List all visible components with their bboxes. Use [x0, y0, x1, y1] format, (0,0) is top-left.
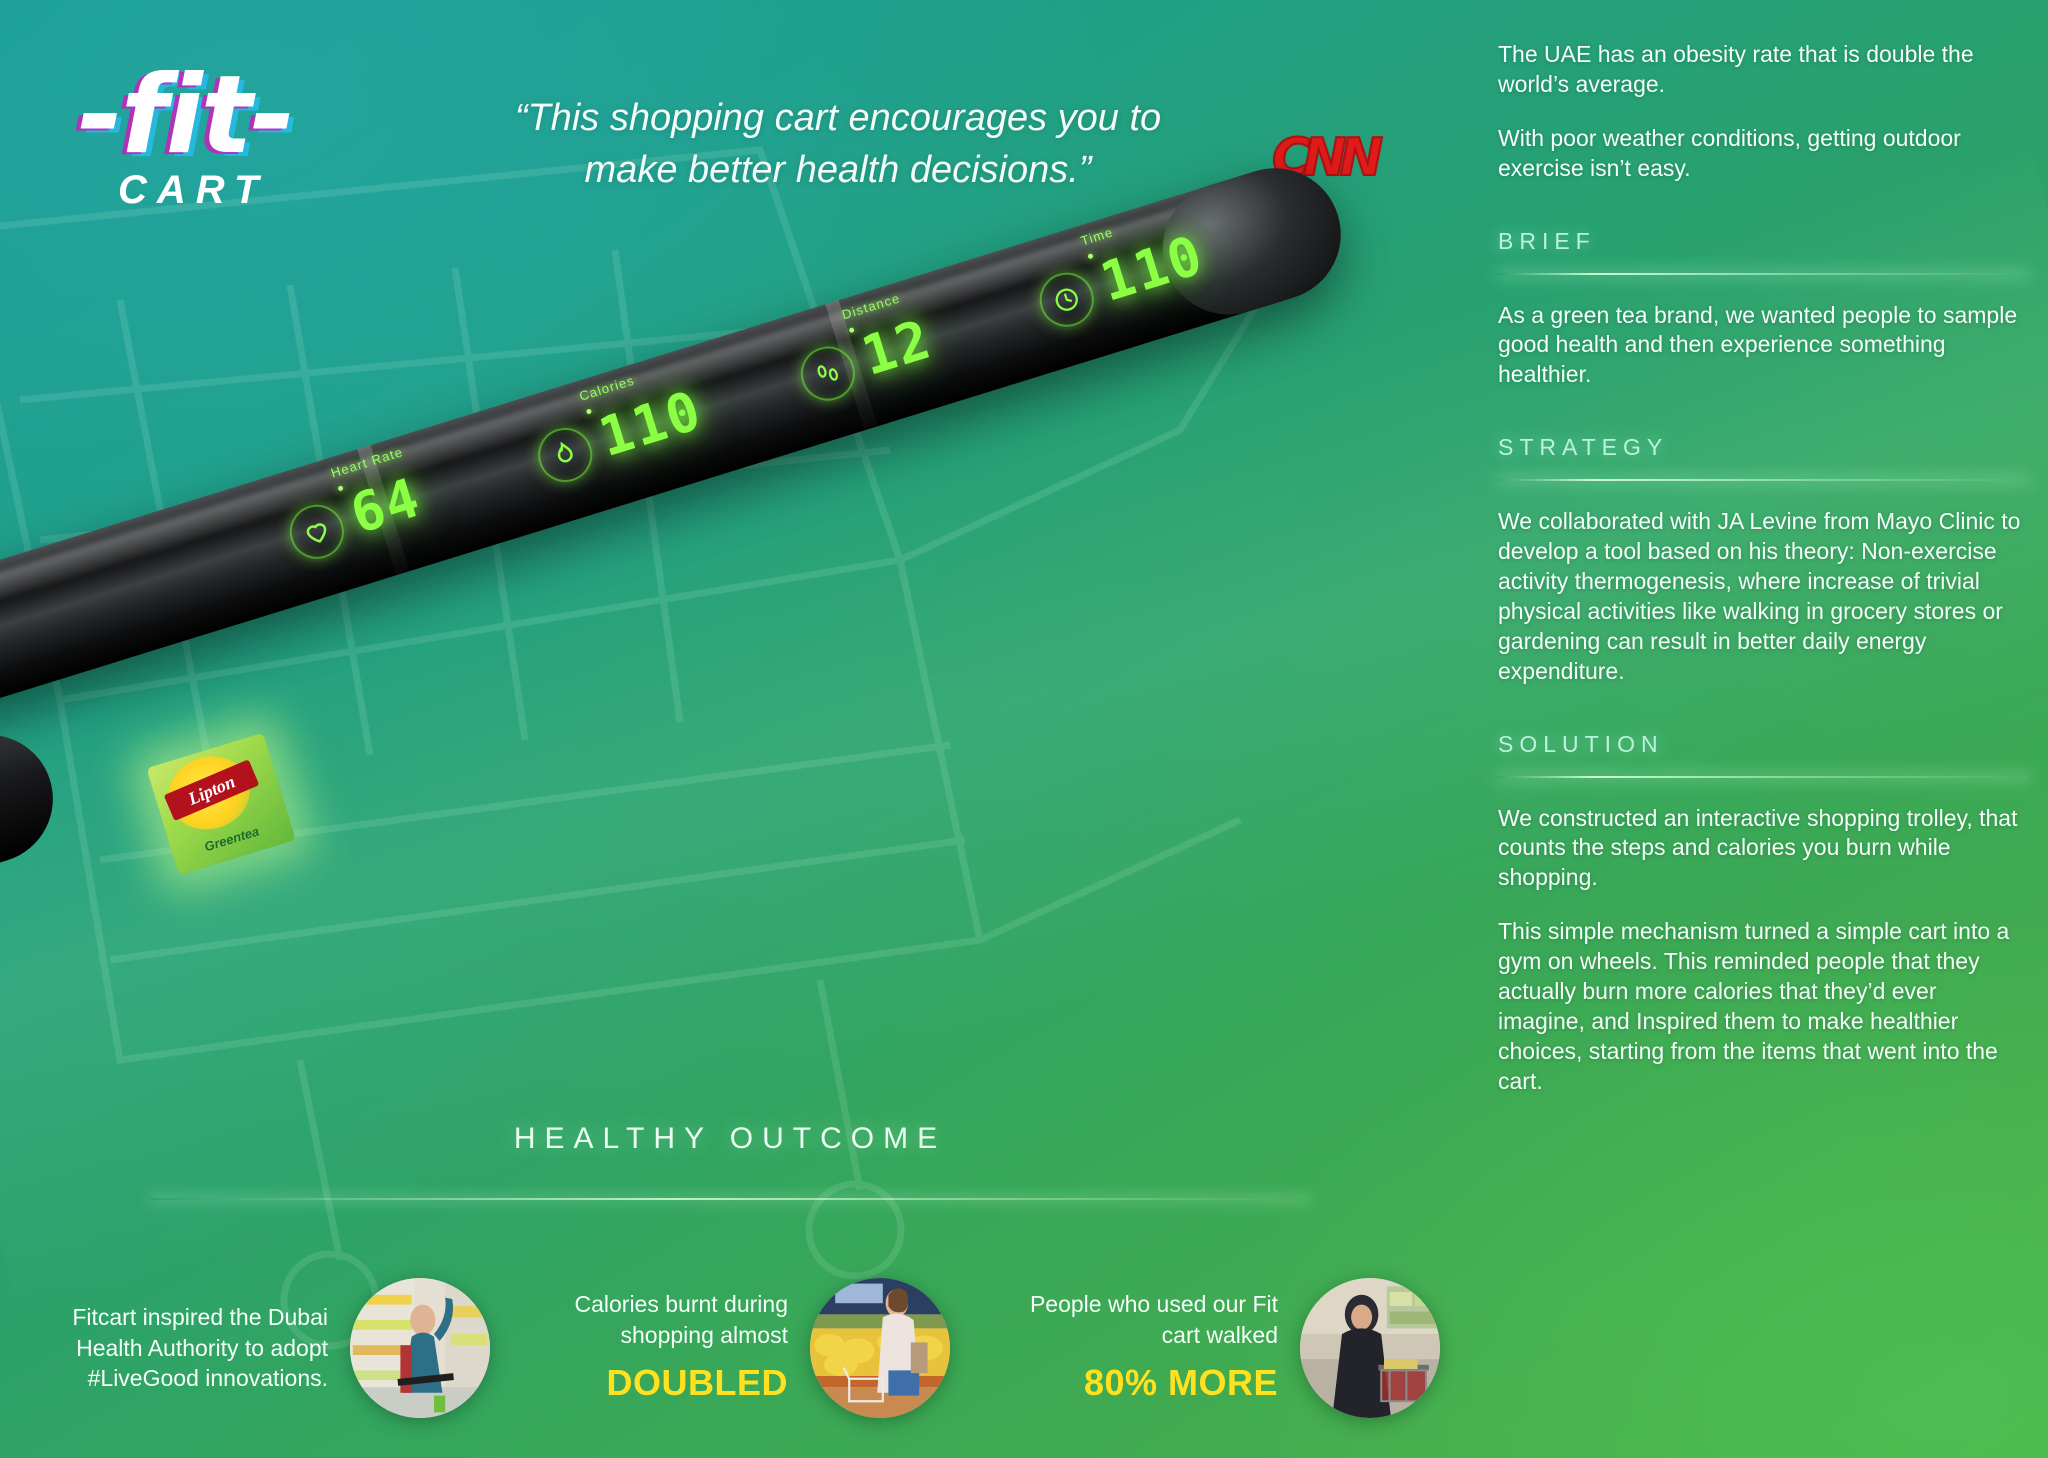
solution-paragraph-2: This simple mechanism turned a simple ca…: [1498, 917, 2028, 1096]
intro-paragraph-1: The UAE has an obesity rate that is doub…: [1498, 40, 2028, 100]
readout-value: 64: [345, 470, 427, 542]
readout-dot: [586, 408, 592, 414]
stat-label: People who used our Fit cart walked: [1030, 1291, 1278, 1348]
heart-icon: [283, 498, 351, 566]
handle-left-grip: [0, 719, 69, 930]
stat-item: Fitcart inspired the Dubai Health Author…: [60, 1248, 510, 1448]
readout-label: Distance: [840, 290, 902, 322]
section-heading-solution: SOLUTION: [1498, 731, 2028, 758]
section-heading-strategy: STRATEGY: [1498, 434, 2028, 461]
readout-label: Calories: [577, 372, 636, 403]
cnn-logo: CNN: [1272, 128, 1376, 188]
shopper-bananas-photo: [810, 1278, 950, 1418]
handle-gloss: [0, 178, 1281, 628]
handle-segment-divider: [357, 445, 409, 575]
poster-canvas: -fit- CART “This shopping cart encourage…: [0, 0, 2048, 1458]
brief-paragraph-1: As a green tea brand, we wanted people t…: [1498, 301, 2028, 391]
section-heading-brief: BRIEF: [1498, 228, 2028, 255]
readout-dot: [849, 327, 855, 333]
fitcart-logo: -fit- CART: [78, 62, 418, 212]
readout-dot: [337, 485, 343, 491]
stat-text: People who used our Fit cart walked 80% …: [990, 1289, 1278, 1407]
section-divider: [1498, 479, 2028, 481]
shopper-cheering-photo: [350, 1278, 490, 1418]
outcome-divider: [150, 1198, 1310, 1200]
section-divider: [1498, 273, 2028, 275]
readout-value: 110: [593, 383, 708, 465]
solution-paragraph-1: We constructed an interactive shopping t…: [1498, 804, 2028, 894]
stat-highlight: 80% MORE: [990, 1359, 1278, 1407]
case-study-panel: The UAE has an obesity rate that is doub…: [1498, 40, 2028, 1097]
handle-segment-divider: [825, 300, 877, 430]
stat-highlight: DOUBLED: [530, 1359, 788, 1407]
stat-item: Calories burnt during shopping almost DO…: [530, 1248, 970, 1448]
lipton-greentea-pack: Lipton Greentea: [146, 733, 295, 876]
strategy-paragraph-1: We collaborated with JA Levine from Mayo…: [1498, 507, 2028, 686]
readout-value: 110: [1095, 228, 1210, 310]
shopper-hijab-photo: [1300, 1278, 1440, 1418]
intro-paragraph-2: With poor weather conditions, getting ou…: [1498, 124, 2028, 184]
readout-label: Heart Rate: [329, 444, 405, 480]
stat-text: Calories burnt during shopping almost DO…: [530, 1289, 788, 1407]
footsteps-icon: [794, 340, 862, 408]
section-divider: [1498, 776, 2028, 778]
stat-item: People who used our Fit cart walked 80% …: [990, 1248, 1460, 1448]
flame-icon: [531, 421, 599, 489]
outcome-stats: Fitcart inspired the Dubai Health Author…: [60, 1248, 1460, 1448]
clock-icon: [1033, 266, 1101, 334]
readout-label: Time: [1079, 224, 1115, 248]
readout-dot: [1087, 253, 1093, 259]
readout-value: 12: [856, 312, 938, 384]
stat-label: Calories burnt during shopping almost: [574, 1291, 788, 1348]
press-quote: “This shopping cart encourages you to ma…: [478, 92, 1198, 197]
handle-bar: [0, 153, 1352, 729]
handle-readout-group: Heart Rate 64 Calories 110: [0, 153, 1352, 729]
outcome-heading: HEALTHY OUTCOME: [0, 1122, 1460, 1156]
logo-wordmark: -fit-: [78, 62, 418, 170]
stat-text: Fitcart inspired the Dubai Health Author…: [60, 1302, 328, 1394]
